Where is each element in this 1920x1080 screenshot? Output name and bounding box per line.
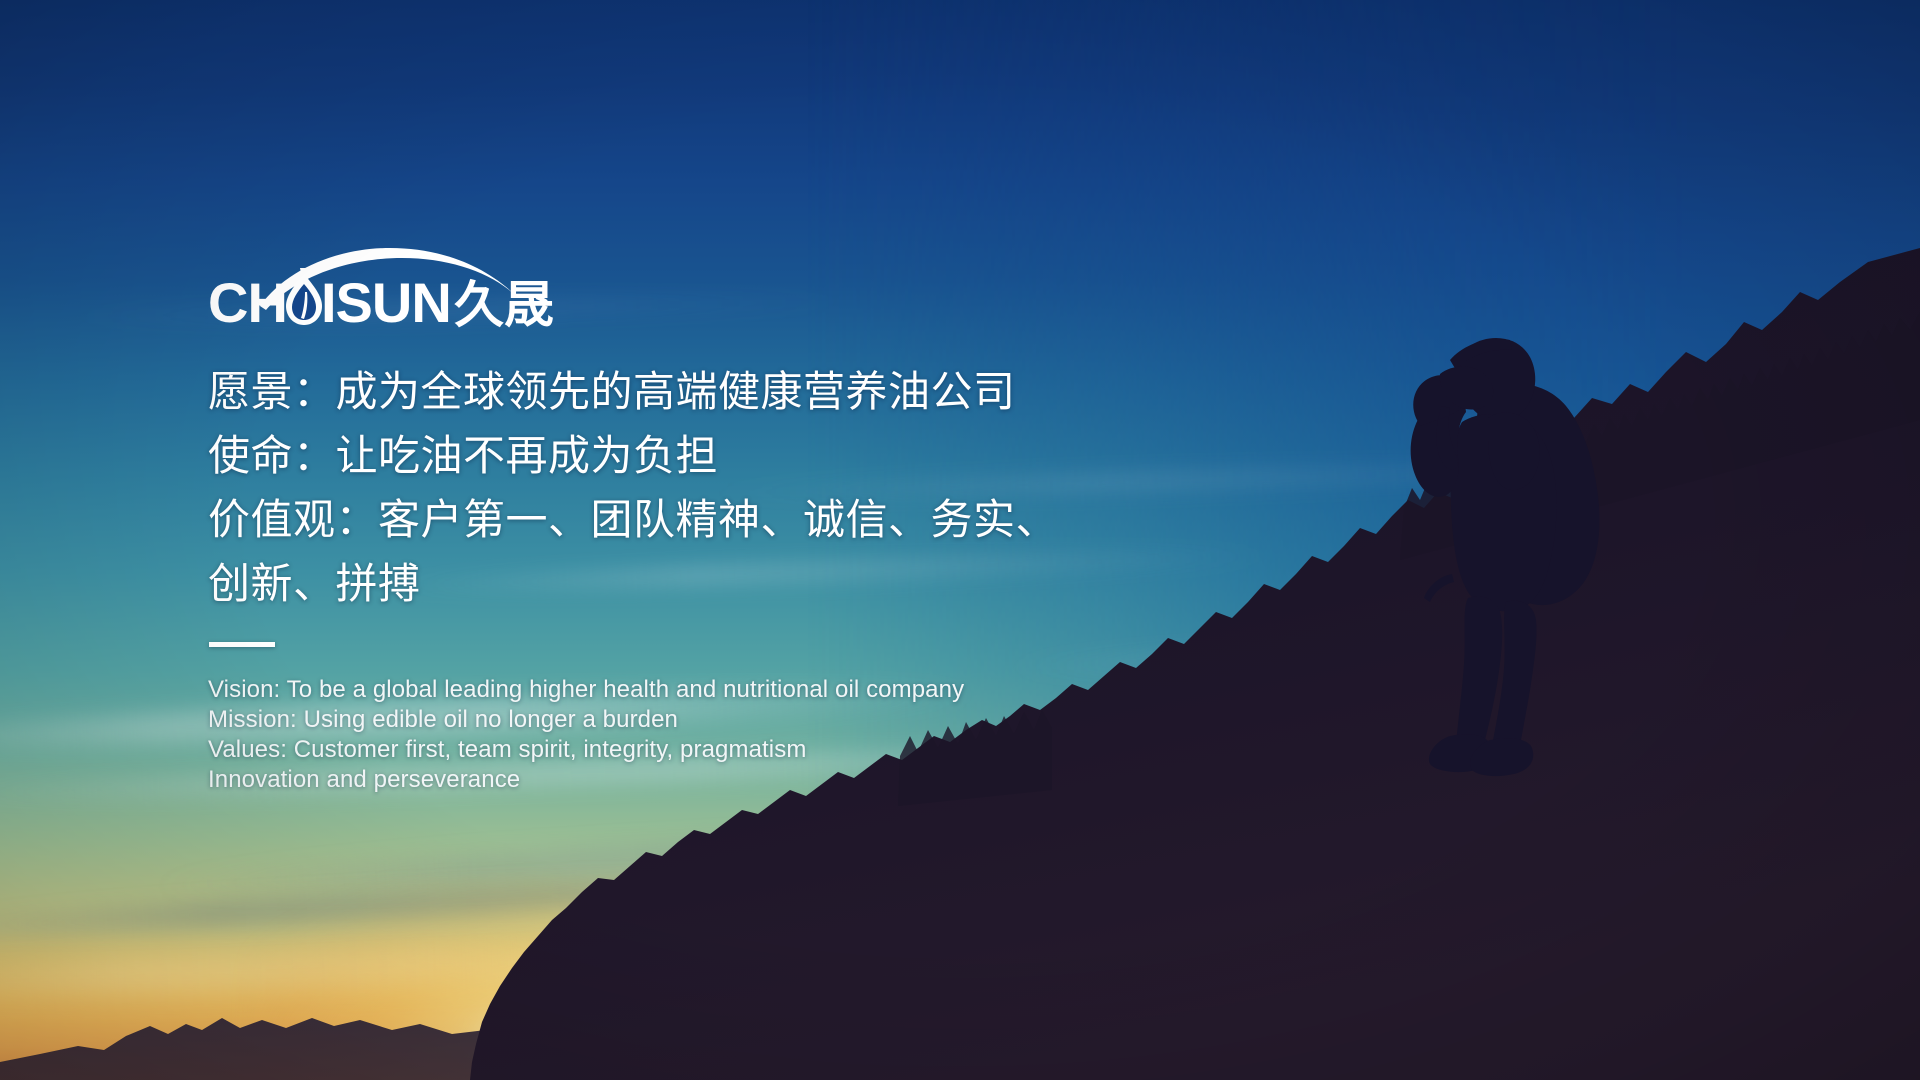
statement-en: Vision: To be a global leading higher he… — [208, 675, 1128, 795]
statement-cn-line-vision: 愿景：成为全球领先的高端健康营养油公司 — [208, 360, 1128, 424]
side-strap — [1424, 574, 1454, 602]
section-divider — [209, 642, 275, 647]
statement-en-line-mission: Mission: Using edible oil no longer a bu… — [208, 705, 1128, 735]
statement-cn-line-values-2: 创新、拼搏 — [208, 552, 1128, 616]
logo-wordmark-part2: ISUN — [321, 271, 451, 332]
statement-cn-line-values-1: 价值观：客户第一、团队精神、诚信、务实、 — [208, 488, 1128, 552]
statement-en-line-vision: Vision: To be a global leading higher he… — [208, 675, 1128, 705]
content-block: CH ISUN 久晟 愿景：成为全球领先的高端健康营养油公司 使命：让吃油不再成… — [208, 246, 1128, 795]
hiker-silhouette — [1370, 330, 1640, 790]
leg-left — [1456, 597, 1502, 744]
statement-cn-line-mission: 使命：让吃油不再成为负担 — [208, 424, 1128, 488]
statement-en-line-values-1: Values: Customer first, team spirit, int… — [208, 735, 1128, 765]
statement-cn: 愿景：成为全球领先的高端健康营养油公司 使命：让吃油不再成为负担 价值观：客户第… — [208, 360, 1128, 616]
logo-wordmark-part1: CH — [208, 271, 287, 332]
logo-cn-characters: 久晟 — [454, 276, 554, 332]
brand-logo[interactable]: CH ISUN 久晟 — [208, 246, 556, 332]
slide-canvas: CH ISUN 久晟 愿景：成为全球领先的高端健康营养油公司 使命：让吃油不再成… — [0, 0, 1920, 1080]
statement-en-line-values-2: Innovation and perseverance — [208, 765, 1128, 795]
